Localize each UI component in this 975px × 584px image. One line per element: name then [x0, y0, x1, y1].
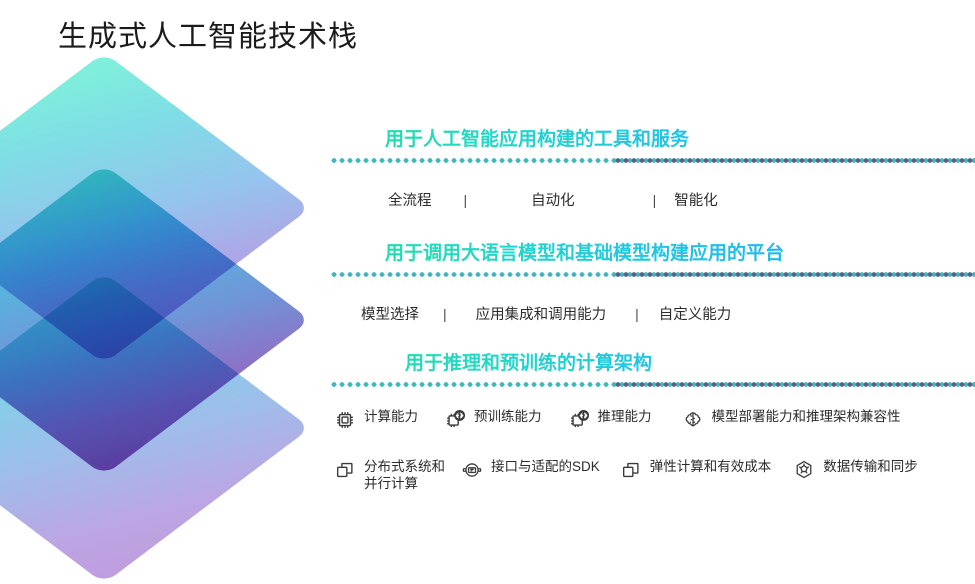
capability-label: 预训练能力 — [474, 408, 542, 425]
stacked-squares-icon — [334, 459, 356, 481]
section-1-divider — [330, 158, 975, 163]
stacked-squares-icon — [620, 459, 642, 481]
section-3-heading: 用于推理和预训练的计算架构 — [330, 350, 975, 380]
capability-compute: 计算能力 — [334, 408, 418, 431]
list-item: 自动化 — [531, 189, 575, 210]
section-application-tools: 用于人工智能应用构建的工具和服务 全流程 | 自动化 | 智能化 — [330, 126, 975, 210]
capability-sdk-interface: 接口与适配的SDK — [461, 458, 600, 481]
capability-pretraining: 预训练能力 — [444, 408, 542, 431]
capability-label: 弹性计算和有效成本 — [650, 458, 772, 475]
list-item: 自定义能力 — [659, 303, 732, 324]
hex-network-icon — [793, 459, 815, 481]
item-separator: | — [443, 306, 447, 322]
item-separator: | — [653, 192, 657, 208]
capability-label: 推理能力 — [598, 408, 652, 425]
section-compute-architecture: 用于推理和预训练的计算架构 计算能力 — [330, 350, 975, 387]
capability-label: 模型部署能力和推理架构兼容性 — [712, 408, 901, 425]
list-item: 智能化 — [674, 189, 718, 210]
middle-layer-shape — [0, 164, 310, 475]
section-2-divider — [330, 272, 975, 277]
cpu-brain-chip-icon — [444, 409, 466, 431]
capability-model-deployment: 模型部署能力和推理架构兼容性 — [682, 408, 901, 431]
slide-root: { "slide": { "title": "生成式人工智能技术栈", "bac… — [0, 0, 975, 535]
capability-row-secondary: 分布式系统和 并行计算 接口与适配的SDK — [334, 458, 936, 492]
content-column: 用于人工智能应用构建的工具和服务 全流程 | 自动化 | 智能化 用于调用大语言… — [330, 0, 975, 535]
section-1-item-row: 全流程 | 自动化 | 智能化 — [330, 189, 975, 210]
list-item: 模型选择 — [361, 303, 419, 324]
section-2-heading: 用于调用大语言模型和基础模型构建应用的平台 — [330, 240, 975, 270]
section-model-platform: 用于调用大语言模型和基础模型构建应用的平台 模型选择 | 应用集成和调用能力 |… — [330, 240, 975, 324]
capability-distributed-systems: 分布式系统和 并行计算 — [334, 458, 445, 492]
page-title: 生成式人工智能技术栈 — [58, 17, 358, 57]
brain-icon — [682, 409, 704, 431]
capability-row-primary: 计算能力 预训练能力 — [334, 408, 919, 431]
item-separator: | — [635, 306, 639, 322]
item-separator: | — [464, 192, 468, 208]
list-item: 应用集成和调用能力 — [476, 303, 607, 324]
layer-stack-graphic — [0, 0, 360, 535]
section-3-divider — [330, 382, 975, 387]
capability-label: 接口与适配的SDK — [491, 458, 600, 475]
bottom-layer-shape — [0, 272, 310, 583]
capability-elastic-compute: 弹性计算和有效成本 — [620, 458, 772, 481]
section-1-heading: 用于人工智能应用构建的工具和服务 — [330, 126, 975, 156]
capability-data-transfer: 数据传输和同步 — [793, 458, 918, 481]
capability-label: 数据传输和同步 — [823, 458, 918, 475]
list-item: 全流程 — [388, 189, 432, 210]
capability-label: 计算能力 — [364, 408, 418, 425]
capability-label: 分布式系统和 并行计算 — [364, 458, 445, 492]
cpu-chip-icon — [334, 409, 356, 431]
cpu-brain-chip-icon — [568, 409, 590, 431]
api-interface-icon — [461, 459, 483, 481]
section-2-item-row: 模型选择 | 应用集成和调用能力 | 自定义能力 — [330, 303, 975, 324]
capability-inference: 推理能力 — [568, 408, 652, 431]
top-layer-shape — [0, 52, 310, 363]
